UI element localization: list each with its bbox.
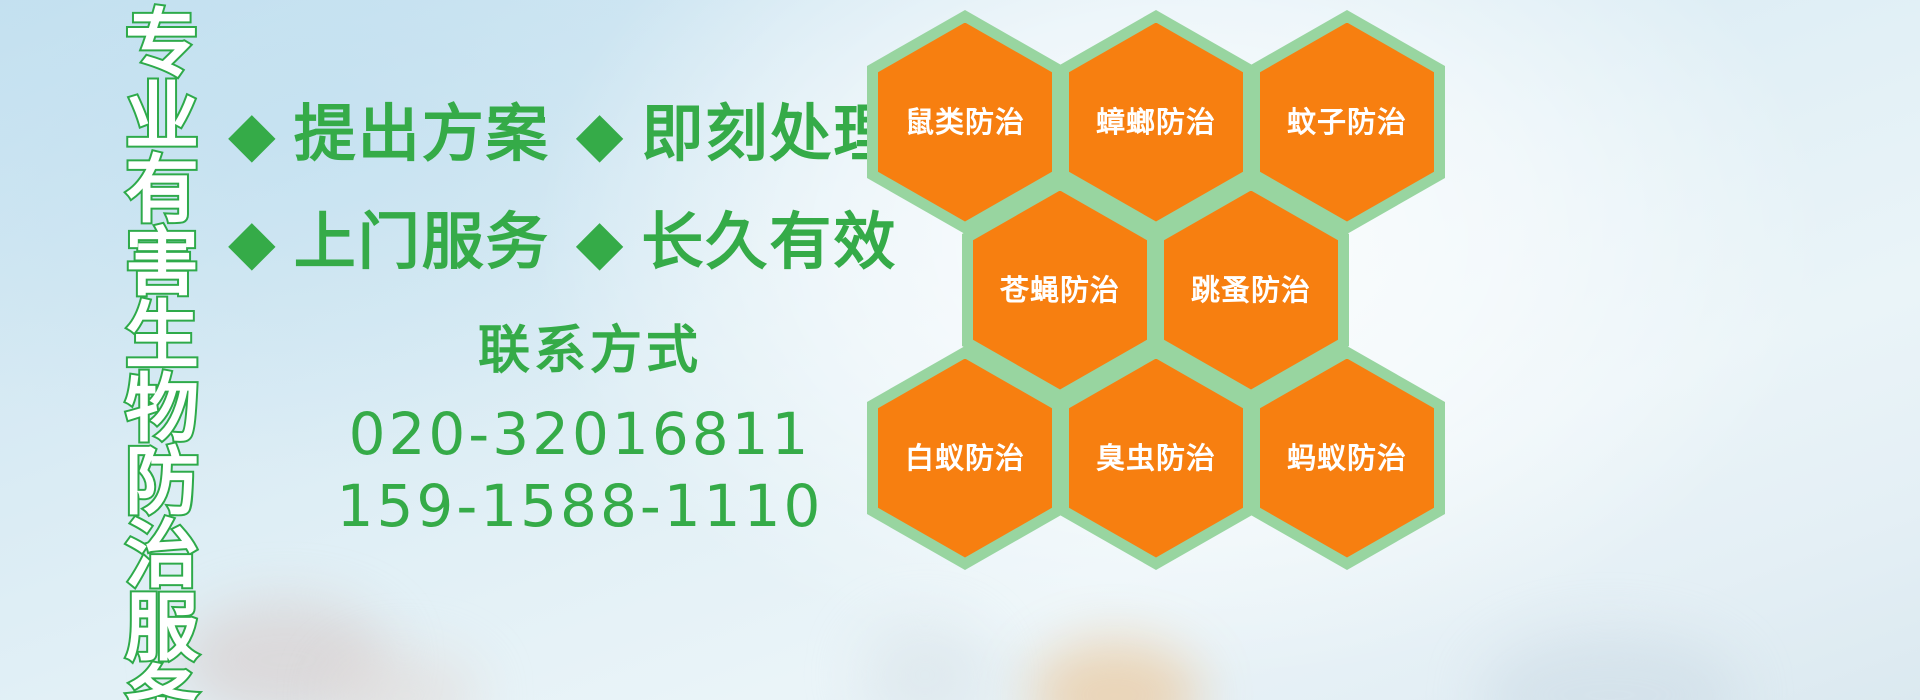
feature-row: ◆ 上门服务 ◆ 长久有效 bbox=[228, 188, 868, 296]
promo-banner: 专 业 有 害 生 物 防 治 服 务 ◆ 提出方案 ◆ 即刻处理 ◆ 上门服务… bbox=[0, 0, 1920, 700]
feature-list: ◆ 提出方案 ◆ 即刻处理 ◆ 上门服务 ◆ 长久有效 bbox=[228, 80, 868, 296]
vertical-title-char: 治 bbox=[125, 519, 199, 592]
background-blur-shape-right bbox=[1480, 630, 1740, 700]
vertical-title-char: 有 bbox=[125, 154, 199, 227]
feature-label: 提出方案 bbox=[294, 101, 550, 167]
vertical-title-char: 物 bbox=[125, 373, 199, 446]
feature-row: ◆ 提出方案 ◆ 即刻处理 bbox=[228, 80, 868, 188]
service-honeycomb: 鼠类防治 蟑螂防治 蚊子防治 苍蝇防治 跳蚤防治 白蚁防治 bbox=[855, 0, 1475, 560]
diamond-bullet-icon: ◆ bbox=[576, 103, 624, 165]
diamond-bullet-icon: ◆ bbox=[228, 103, 276, 165]
vertical-title-char: 专 bbox=[125, 8, 199, 81]
hex-inner: 蟑螂防治 bbox=[1069, 23, 1243, 222]
hex-label: 苍蝇防治 bbox=[1000, 274, 1120, 306]
hex-label: 蟑螂防治 bbox=[1096, 106, 1216, 138]
hex-label: 蚂蚁防治 bbox=[1287, 442, 1407, 474]
hex-label: 跳蚤防治 bbox=[1191, 274, 1311, 306]
hex-inner: 白蚁防治 bbox=[878, 359, 1052, 558]
vertical-title-char: 害 bbox=[125, 227, 199, 300]
phone-number-mobile[interactable]: 159-1588-1110 bbox=[300, 470, 860, 542]
diamond-bullet-icon: ◆ bbox=[576, 211, 624, 273]
hex-inner: 鼠类防治 bbox=[878, 23, 1052, 222]
hex-inner: 蚂蚁防治 bbox=[1260, 359, 1434, 558]
vertical-title-char: 生 bbox=[125, 300, 199, 373]
vertical-title: 专 业 有 害 生 物 防 治 服 务 bbox=[108, 8, 216, 698]
contact-heading: 联系方式 bbox=[300, 318, 860, 384]
hex-inner: 蚊子防治 bbox=[1260, 23, 1434, 222]
vertical-title-char: 防 bbox=[125, 446, 199, 519]
hex-label: 臭虫防治 bbox=[1096, 442, 1216, 474]
background-blur-shape-left-2 bbox=[330, 650, 480, 700]
hex-label: 鼠类防治 bbox=[905, 106, 1025, 138]
background-blur-shape-orange bbox=[1030, 640, 1200, 700]
diamond-bullet-icon: ◆ bbox=[228, 211, 276, 273]
background-blur-shape-center bbox=[860, 620, 990, 700]
vertical-title-char: 服 bbox=[125, 592, 199, 665]
vertical-title-char: 业 bbox=[125, 81, 199, 154]
hex-inner: 苍蝇防治 bbox=[973, 191, 1147, 390]
hex-inner: 跳蚤防治 bbox=[1164, 191, 1338, 390]
feature-label: 上门服务 bbox=[294, 209, 550, 275]
hex-inner: 臭虫防治 bbox=[1069, 359, 1243, 558]
hex-label: 白蚁防治 bbox=[905, 442, 1025, 474]
phone-number-landline[interactable]: 020-32016811 bbox=[300, 398, 860, 470]
hex-label: 蚊子防治 bbox=[1287, 106, 1407, 138]
vertical-title-char: 务 bbox=[125, 665, 199, 700]
contact-block: 联系方式 020-32016811 159-1588-1110 bbox=[300, 318, 860, 542]
